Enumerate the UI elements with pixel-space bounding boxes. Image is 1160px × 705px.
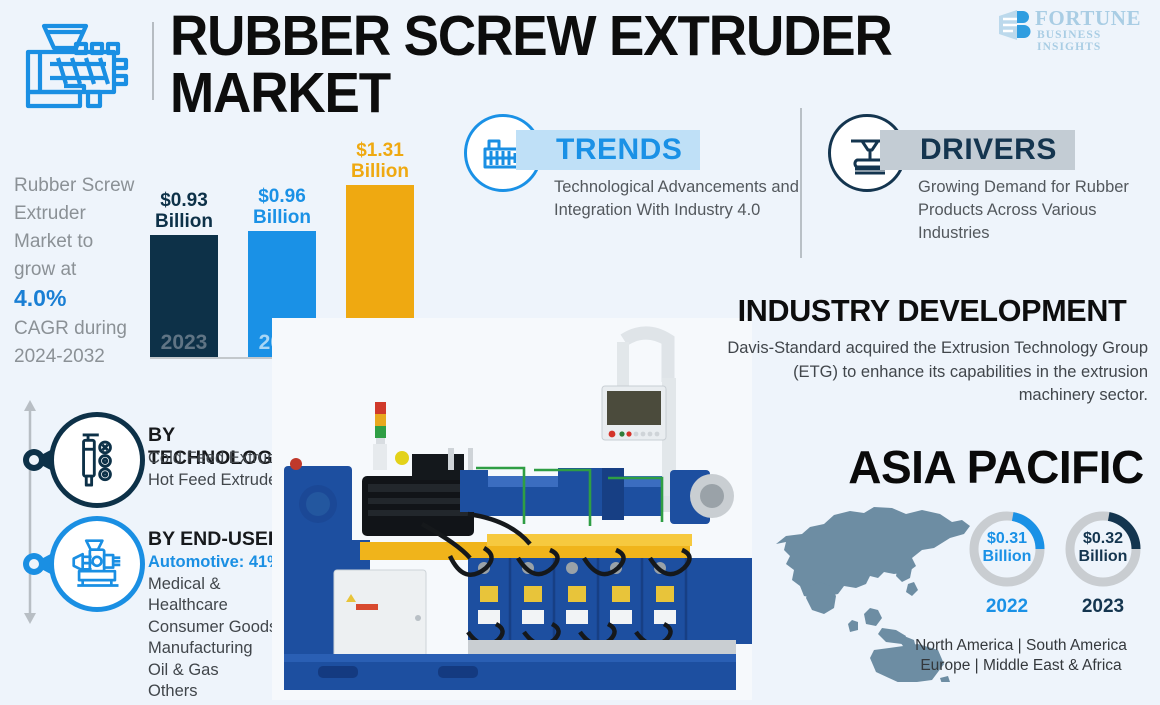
brand-subtitle: BUSINESS INSIGHTS [1037,29,1152,53]
industry-development-title: INDUSTRY DEVELOPMENT [716,294,1148,329]
donut-year-2022: 2022 [966,596,1048,618]
list-item: Cold Feed Extruder [148,448,291,470]
cagr-line-1: Rubber Screw [14,175,134,196]
end-user-icon-circle [49,516,145,612]
cagr-line-5: CAGR during [14,318,127,339]
bar-rect: $0.93Billion 2023 [150,235,218,357]
segment-title-end-user: BY END-USER [148,528,282,551]
segment-items-technology: Cold Feed Extruder Hot Feed Extruder [148,448,291,491]
industry-development-body: Davis-Standard acquired the Extrusion Te… [716,337,1148,408]
segment-by-end-user: BY END-USER Automotive: 41% Medical & He… [20,514,300,684]
bar-value-label: $1.31Billion [351,140,409,185]
industry-development-section: INDUSTRY DEVELOPMENT Davis-Standard acqu… [716,294,1148,408]
bar-column-2023: $0.93Billion 2023 [150,235,218,357]
vertical-extruder-icon [83,435,111,485]
page-title: RUBBER SCREW EXTRUDER MARKET [170,8,905,122]
infographic-canvas: RUBBER SCREW EXTRUDER MARKET FORTUNE BUS… [0,0,1160,700]
rubber-extruder-machine-icon [74,541,121,586]
list-item: Hot Feed Extruder [148,470,291,492]
donut-2022: $0.31 Billion 2022 [966,508,1048,590]
extruder-machine-icon [14,18,140,114]
section-divider [800,108,802,258]
donut-value-text: $0.32 [1083,530,1123,547]
trends-section: TRENDS Technological Advancements and In… [464,114,794,254]
cagr-line-3: Market to [14,231,93,252]
donut-value-text: $0.31 [987,530,1027,547]
technology-icon-circle [49,412,145,508]
bar-value-label: $0.93Billion [155,190,213,235]
cagr-line-6: 2024-2032 [14,346,105,367]
drivers-section: DRIVERS Growing Demand for Rubber Produc… [828,114,1158,254]
bar-value-label: $0.96Billion [253,186,311,231]
donut-year-2023: 2023 [1062,596,1144,618]
cagr-value: 4.0% [14,285,66,311]
regions-line-2: Europe | Middle East & Africa [890,656,1152,676]
cagr-line-4: grow at [14,259,76,280]
bar-year-label: 2023 [150,331,218,355]
trends-label: TRENDS [556,133,682,167]
extruder-machine-photo [272,318,752,700]
donut-unit-text: Billion [1079,548,1128,565]
segment-by-technology: BY TECHNOLOGY Cold Feed Extruder Hot Fee… [20,410,300,510]
trends-badge: TRENDS [516,130,700,170]
cagr-summary: Rubber Screw Extruder Market to grow at … [14,172,164,371]
donut-value-2022: $0.31 Billion [966,530,1048,566]
header-divider [152,22,154,100]
donut-unit-text: Billion [983,548,1032,565]
region-title: ASIA PACIFIC [846,440,1146,494]
donut-value-2023: $0.32 Billion [1062,530,1144,566]
donut-2023: $0.32 Billion 2023 [1062,508,1144,590]
drivers-label: DRIVERS [920,133,1057,167]
other-regions-list: North America | South America Europe | M… [890,636,1152,676]
fortune-business-insights-mark [997,10,1031,40]
cagr-line-2: Extruder [14,203,86,224]
brand-name: FORTUNE [1035,6,1141,31]
drivers-badge: DRIVERS [880,130,1075,170]
brand-logo: FORTUNE BUSINESS INSIGHTS [997,6,1152,50]
trends-body: Technological Advancements and Integrati… [554,176,806,222]
drivers-body: Growing Demand for Rubber Products Acros… [918,176,1160,245]
regions-line-1: North America | South America [890,636,1152,656]
